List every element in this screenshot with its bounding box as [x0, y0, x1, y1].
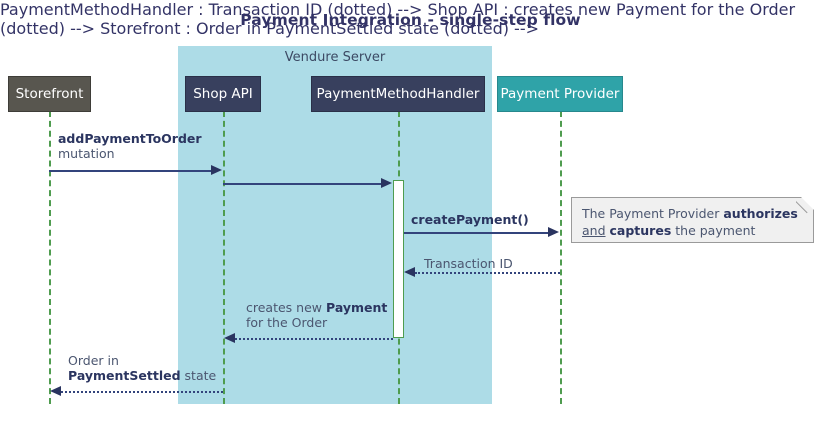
diagram-title: Payment Integration - single-step flow [0, 11, 821, 29]
message-label-bold: Payment [326, 300, 387, 315]
arrowhead-creates-new-payment [224, 333, 235, 343]
message-line-add-payment-to-order [49, 170, 211, 172]
arrowhead-order-payment-settled [50, 386, 61, 396]
lifeline-payment-provider [560, 111, 562, 404]
participant-payment-method-handler[interactable]: PaymentMethodHandler [311, 76, 485, 112]
sequence-diagram: Payment Integration - single-step flow V… [0, 0, 821, 422]
note-line2-underlined: and [582, 223, 606, 238]
participant-storefront[interactable]: Storefront [8, 76, 91, 112]
message-label-create-payment: createPayment() [411, 212, 529, 227]
message-label-add-payment-to-order: addPaymentToOrder mutation [58, 131, 202, 161]
message-line-shop-api-to-handler [223, 183, 381, 185]
message-label-line2: for the Order [246, 315, 327, 330]
message-label-line2-suffix: state [185, 368, 217, 383]
note-line1-prefix: The Payment Provider [582, 206, 723, 221]
participant-payment-provider[interactable]: Payment Provider [497, 76, 623, 112]
message-line-creates-new-payment [235, 338, 393, 340]
participant-shop-api[interactable]: Shop API [185, 76, 261, 112]
activation-bar-payment-method-handler [393, 180, 404, 338]
message-label-bold: PaymentSettled [68, 368, 181, 383]
message-label-rest: mutation [58, 146, 115, 161]
message-label-creates-new-payment: creates new Payment for the Order [246, 300, 387, 330]
message-line-transaction-id [415, 272, 560, 274]
note-line2-suffix: the payment [671, 223, 755, 238]
message-label-bold: createPayment() [411, 212, 529, 227]
note-fold-edge-icon [796, 197, 814, 215]
vendure-server-group-label: Vendure Server [178, 50, 492, 65]
message-label-bold: addPaymentToOrder [58, 131, 202, 146]
message-label-rest: Order in [68, 353, 119, 368]
message-label-rest: creates new [246, 300, 322, 315]
arrowhead-create-payment [548, 227, 559, 237]
arrowhead-shop-api-to-handler [381, 178, 392, 188]
message-label-transaction-id: Transaction ID [424, 256, 513, 271]
arrowhead-transaction-id [404, 267, 415, 277]
note-line2-bold: captures [610, 223, 672, 238]
lifeline-shop-api [223, 111, 225, 404]
message-label-order-payment-settled: Order in PaymentSettled state [68, 353, 216, 383]
note-payment-provider: The Payment Provider authorizes and capt… [571, 197, 814, 243]
message-line-order-payment-settled [61, 391, 223, 393]
message-label-rest: Transaction ID [424, 256, 513, 271]
arrowhead-add-payment-to-order [211, 165, 222, 175]
lifeline-storefront [49, 111, 51, 404]
note-line1-bold: authorizes [723, 206, 797, 221]
message-line-create-payment [404, 232, 548, 234]
